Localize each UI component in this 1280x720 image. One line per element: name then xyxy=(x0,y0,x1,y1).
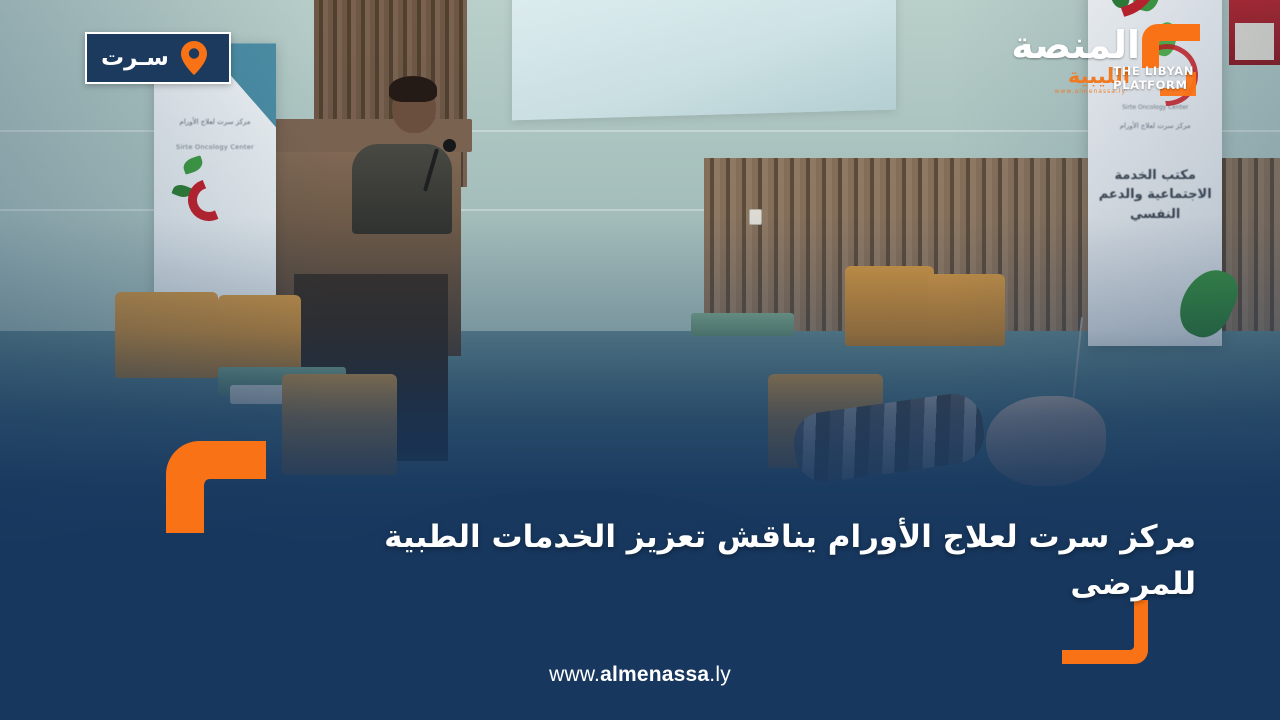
location-label: سـرت xyxy=(101,47,169,70)
logo-english-line-2: PLATFORM xyxy=(1113,78,1187,92)
orange-bracket-top-left xyxy=(166,441,266,533)
url-prefix: www. xyxy=(549,663,600,686)
logo-arabic-wordmark: المنصة xyxy=(1011,26,1140,64)
logo-english-line-1: THE LIBYAN xyxy=(1113,64,1194,78)
news-card: مركز سرت لعلاج الأورام Sirte Oncology Ce… xyxy=(0,0,1280,720)
website-url[interactable]: www.almenassa.ly xyxy=(0,663,1280,687)
url-tld: .ly xyxy=(709,663,731,686)
url-brand: almenassa xyxy=(600,663,709,686)
location-badge[interactable]: سـرت xyxy=(85,32,231,84)
map-pin-icon xyxy=(181,41,207,75)
logo-english-wordmark: THE LIBYAN PLATFORM xyxy=(1113,64,1194,93)
orange-bracket-bottom-right xyxy=(1062,600,1148,664)
almenassa-logo[interactable]: المنصة الليبية www.almenassa.ly THE LIBY… xyxy=(1002,18,1202,118)
headline: مركز سرت لعلاج الأورام يناقش تعزيز الخدم… xyxy=(336,514,1196,607)
